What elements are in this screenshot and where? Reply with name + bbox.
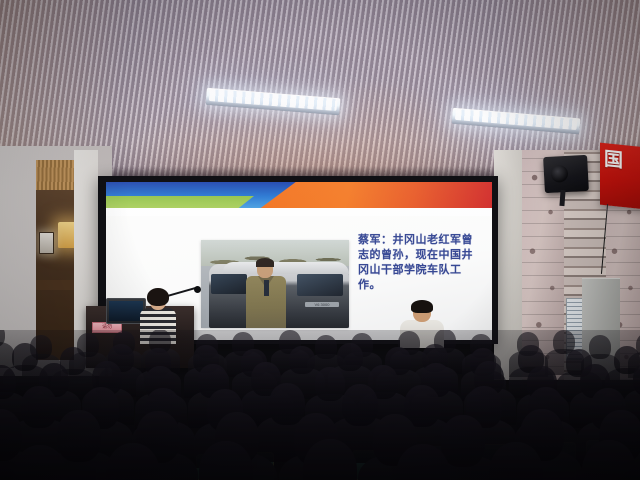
- audience-shadow-haze: [0, 330, 640, 480]
- speaker-driver-icon: [551, 165, 569, 183]
- photo-van-window-front: [211, 274, 247, 294]
- slide-photo: V6 3000: [201, 240, 349, 328]
- photo-van-window-rear: [297, 274, 343, 296]
- seated-speaker-hair: [411, 300, 433, 313]
- red-banner-text: 国: [604, 149, 624, 172]
- photo-person-tie: [264, 280, 269, 296]
- red-banner: 国: [600, 143, 640, 210]
- microphone-head-icon: [194, 286, 201, 293]
- lantern-icon: [39, 232, 54, 254]
- slide-band-orange: [258, 182, 492, 210]
- audience: [0, 330, 640, 480]
- wall-speaker-icon: [543, 155, 589, 193]
- photo-van-roof: [223, 262, 349, 274]
- photo-person-hair: [256, 258, 274, 267]
- slide-band-white: [106, 208, 492, 216]
- laptop-screen: [109, 301, 143, 321]
- host-hair: [147, 288, 169, 306]
- lecture-hall-photo: 国 V6 3000: [0, 0, 640, 480]
- slide-color-band: [106, 182, 492, 216]
- slide-caption-text: 蔡军：井冈山老红军曾志的曾孙，现在中国井冈山干部学院车队工作。: [358, 232, 478, 292]
- photo-van-badge: V6 3000: [305, 302, 339, 307]
